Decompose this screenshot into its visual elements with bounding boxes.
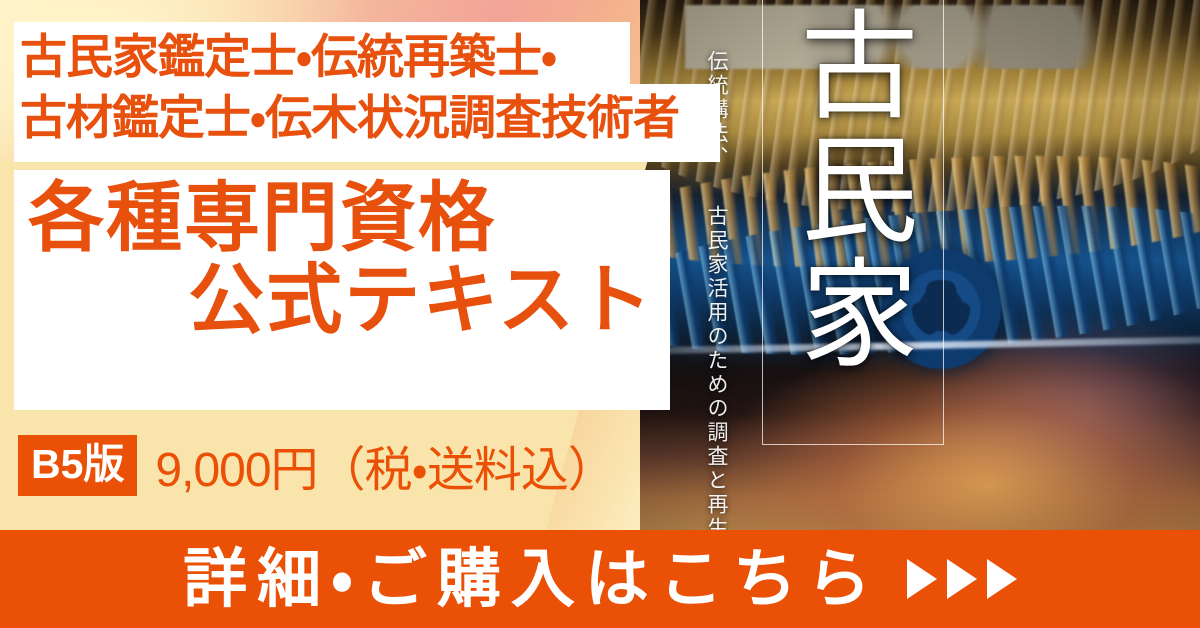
cta-button-bar[interactable]: 詳細・ご購入はこちら (0, 530, 1200, 628)
headline-line-1: 古民家鑑定士・伝統再築士・ (20, 26, 720, 87)
triangle-right-icon (987, 559, 1017, 599)
main-title-line-1: 各種専門資格 (22, 178, 662, 260)
promo-banner: 伝統構法、 古民家活用のための調査と再生の 古民家 古民家鑑定士・伝統再築士・ … (0, 0, 1200, 628)
headline: 古民家鑑定士・伝統再築士・ 古材鑑定士・伝木状況調査技術者 (20, 26, 720, 148)
triangle-right-icon (947, 559, 977, 599)
cta-label: 詳細・ご購入はこちら (183, 547, 881, 611)
book-cover-title: 古民家 (786, 4, 918, 376)
main-title-line-2: 公式テキスト (22, 260, 662, 342)
price-text: 9,000円（税・送料込） (155, 430, 614, 500)
triangle-right-icon (907, 559, 937, 599)
cta-arrow-group (907, 559, 1017, 599)
main-title: 各種専門資格 公式テキスト (22, 178, 662, 342)
format-badge: B5版 (18, 435, 137, 496)
price-row: B5版 9,000円（税・送料込） (18, 430, 615, 500)
headline-line-2: 古材鑑定士・伝木状況調査技術者 (20, 87, 720, 148)
